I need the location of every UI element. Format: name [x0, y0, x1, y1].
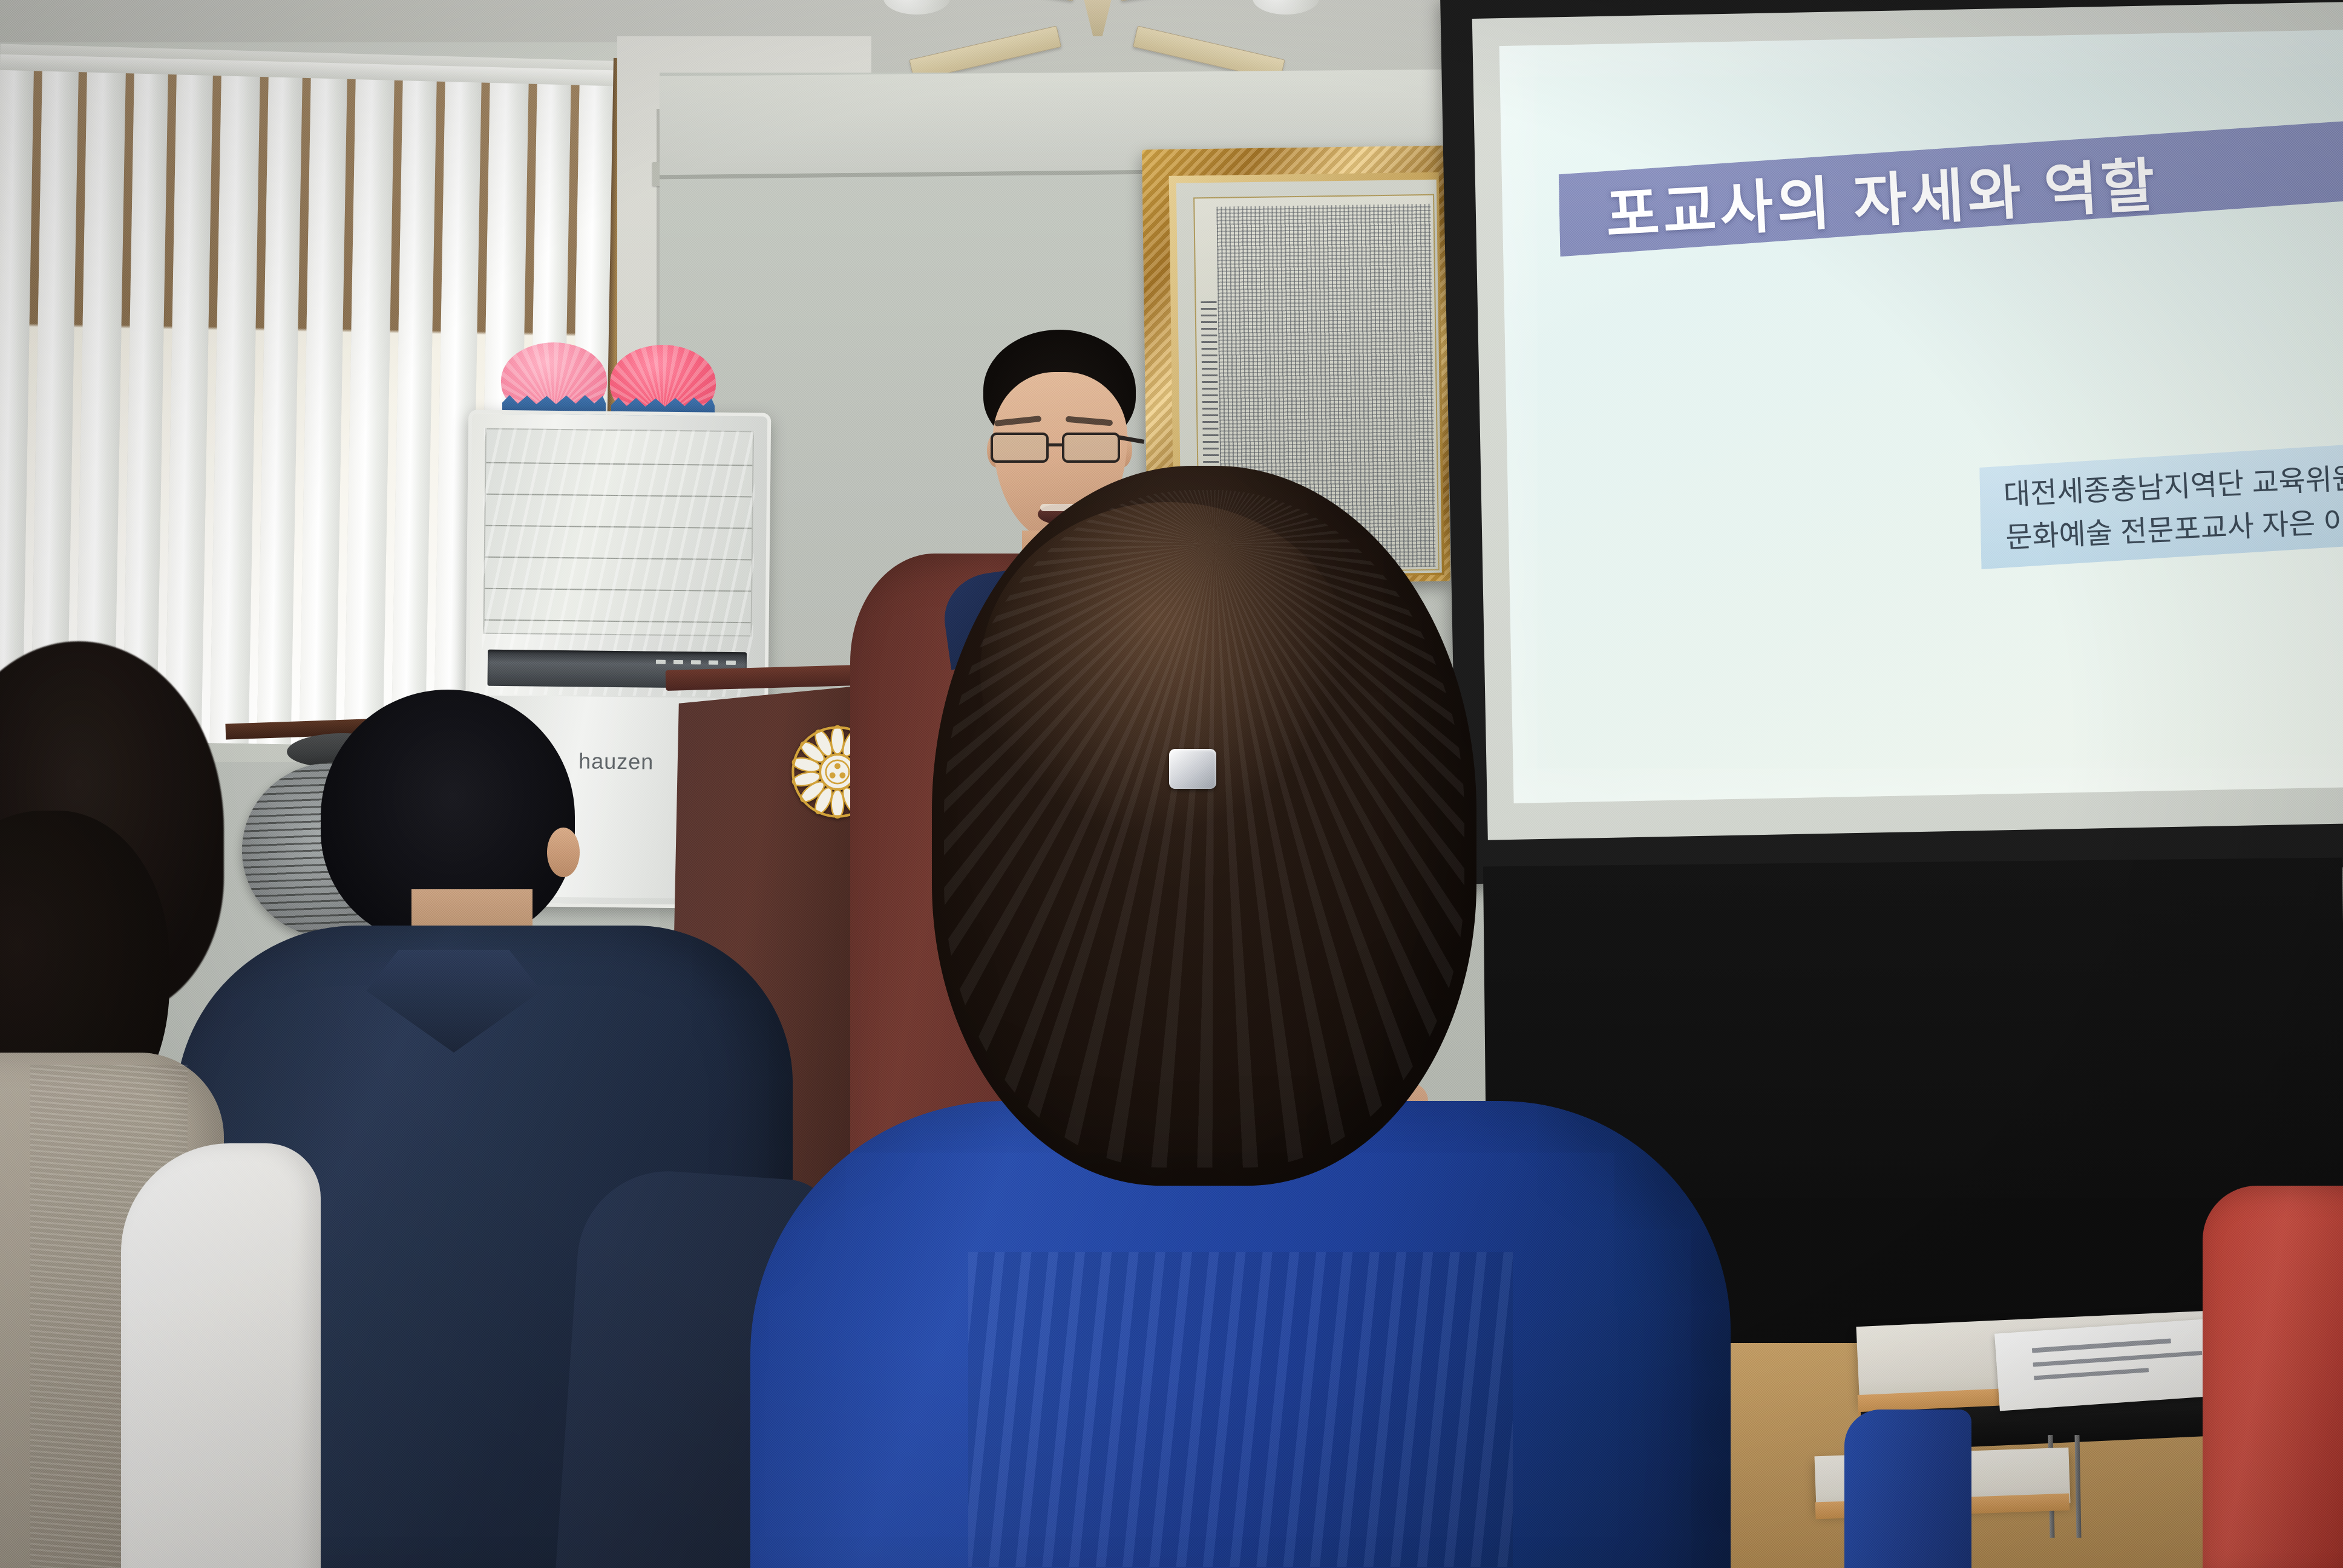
lecture-hall-scene: hauzen [0, 0, 2343, 1568]
audience-member-blue-sliver [1844, 1410, 1971, 1568]
ceiling-fan-icon [890, 0, 1307, 69]
slide-title: 포교사의 자세와 역할 [1603, 125, 2333, 256]
paper-text-line [2032, 1339, 2171, 1353]
ac-louver-line [485, 588, 751, 592]
ac-button[interactable] [673, 660, 683, 664]
hair-strands [944, 490, 1464, 1168]
slide-subtitle-line-1: 대전세종충남지역단 교육위원 [2003, 458, 2343, 514]
ac-button[interactable] [709, 661, 718, 665]
eyeglass-lens [991, 433, 1049, 463]
lotus-lantern [610, 345, 716, 420]
eyeglasses-icon [989, 430, 1132, 466]
man-ear [547, 828, 580, 877]
ac-button[interactable] [656, 660, 666, 664]
paper-text-line [2033, 1351, 2203, 1367]
ac-button[interactable] [726, 661, 736, 665]
ac-louver-line [486, 494, 752, 498]
audience-member-red [2203, 1186, 2343, 1568]
ac-louver-line [486, 462, 752, 466]
audience-member-woman-center [896, 466, 1610, 1568]
ac-button-row[interactable] [656, 660, 736, 665]
ac-louver-line [485, 525, 752, 529]
lotus-petal [831, 726, 844, 754]
fabric-folds [968, 1252, 1513, 1567]
audience-member-woman-left [0, 641, 381, 1568]
eyeglass-bridge [1049, 443, 1064, 446]
paper-text-line [2034, 1368, 2149, 1380]
ac-button[interactable] [691, 660, 701, 664]
slide-subtitle: 대전세종충남지역단 교육위원 문화예술 전문포교사 자은 이선준 [2002, 445, 2343, 569]
ac-louver-line [485, 557, 752, 561]
eyeglass-temple-arm [1118, 435, 1145, 444]
eyeglass-lens [1062, 433, 1120, 463]
ac-louver-line [485, 619, 751, 624]
lotus-petal [831, 790, 844, 818]
woman-white-sleeve [121, 1143, 321, 1568]
ac-louver-panel [483, 428, 754, 637]
ceiling-fan-light-globe [883, 0, 950, 15]
fan-hub [1083, 0, 1112, 36]
lotus-lantern [501, 342, 607, 418]
silver-hair-clip-icon [1169, 749, 1216, 789]
projected-slide: 포교사의 자세와 역할 대전세종충남지역단 교육위원 문화예술 전문포교사 자은… [1499, 29, 2343, 803]
